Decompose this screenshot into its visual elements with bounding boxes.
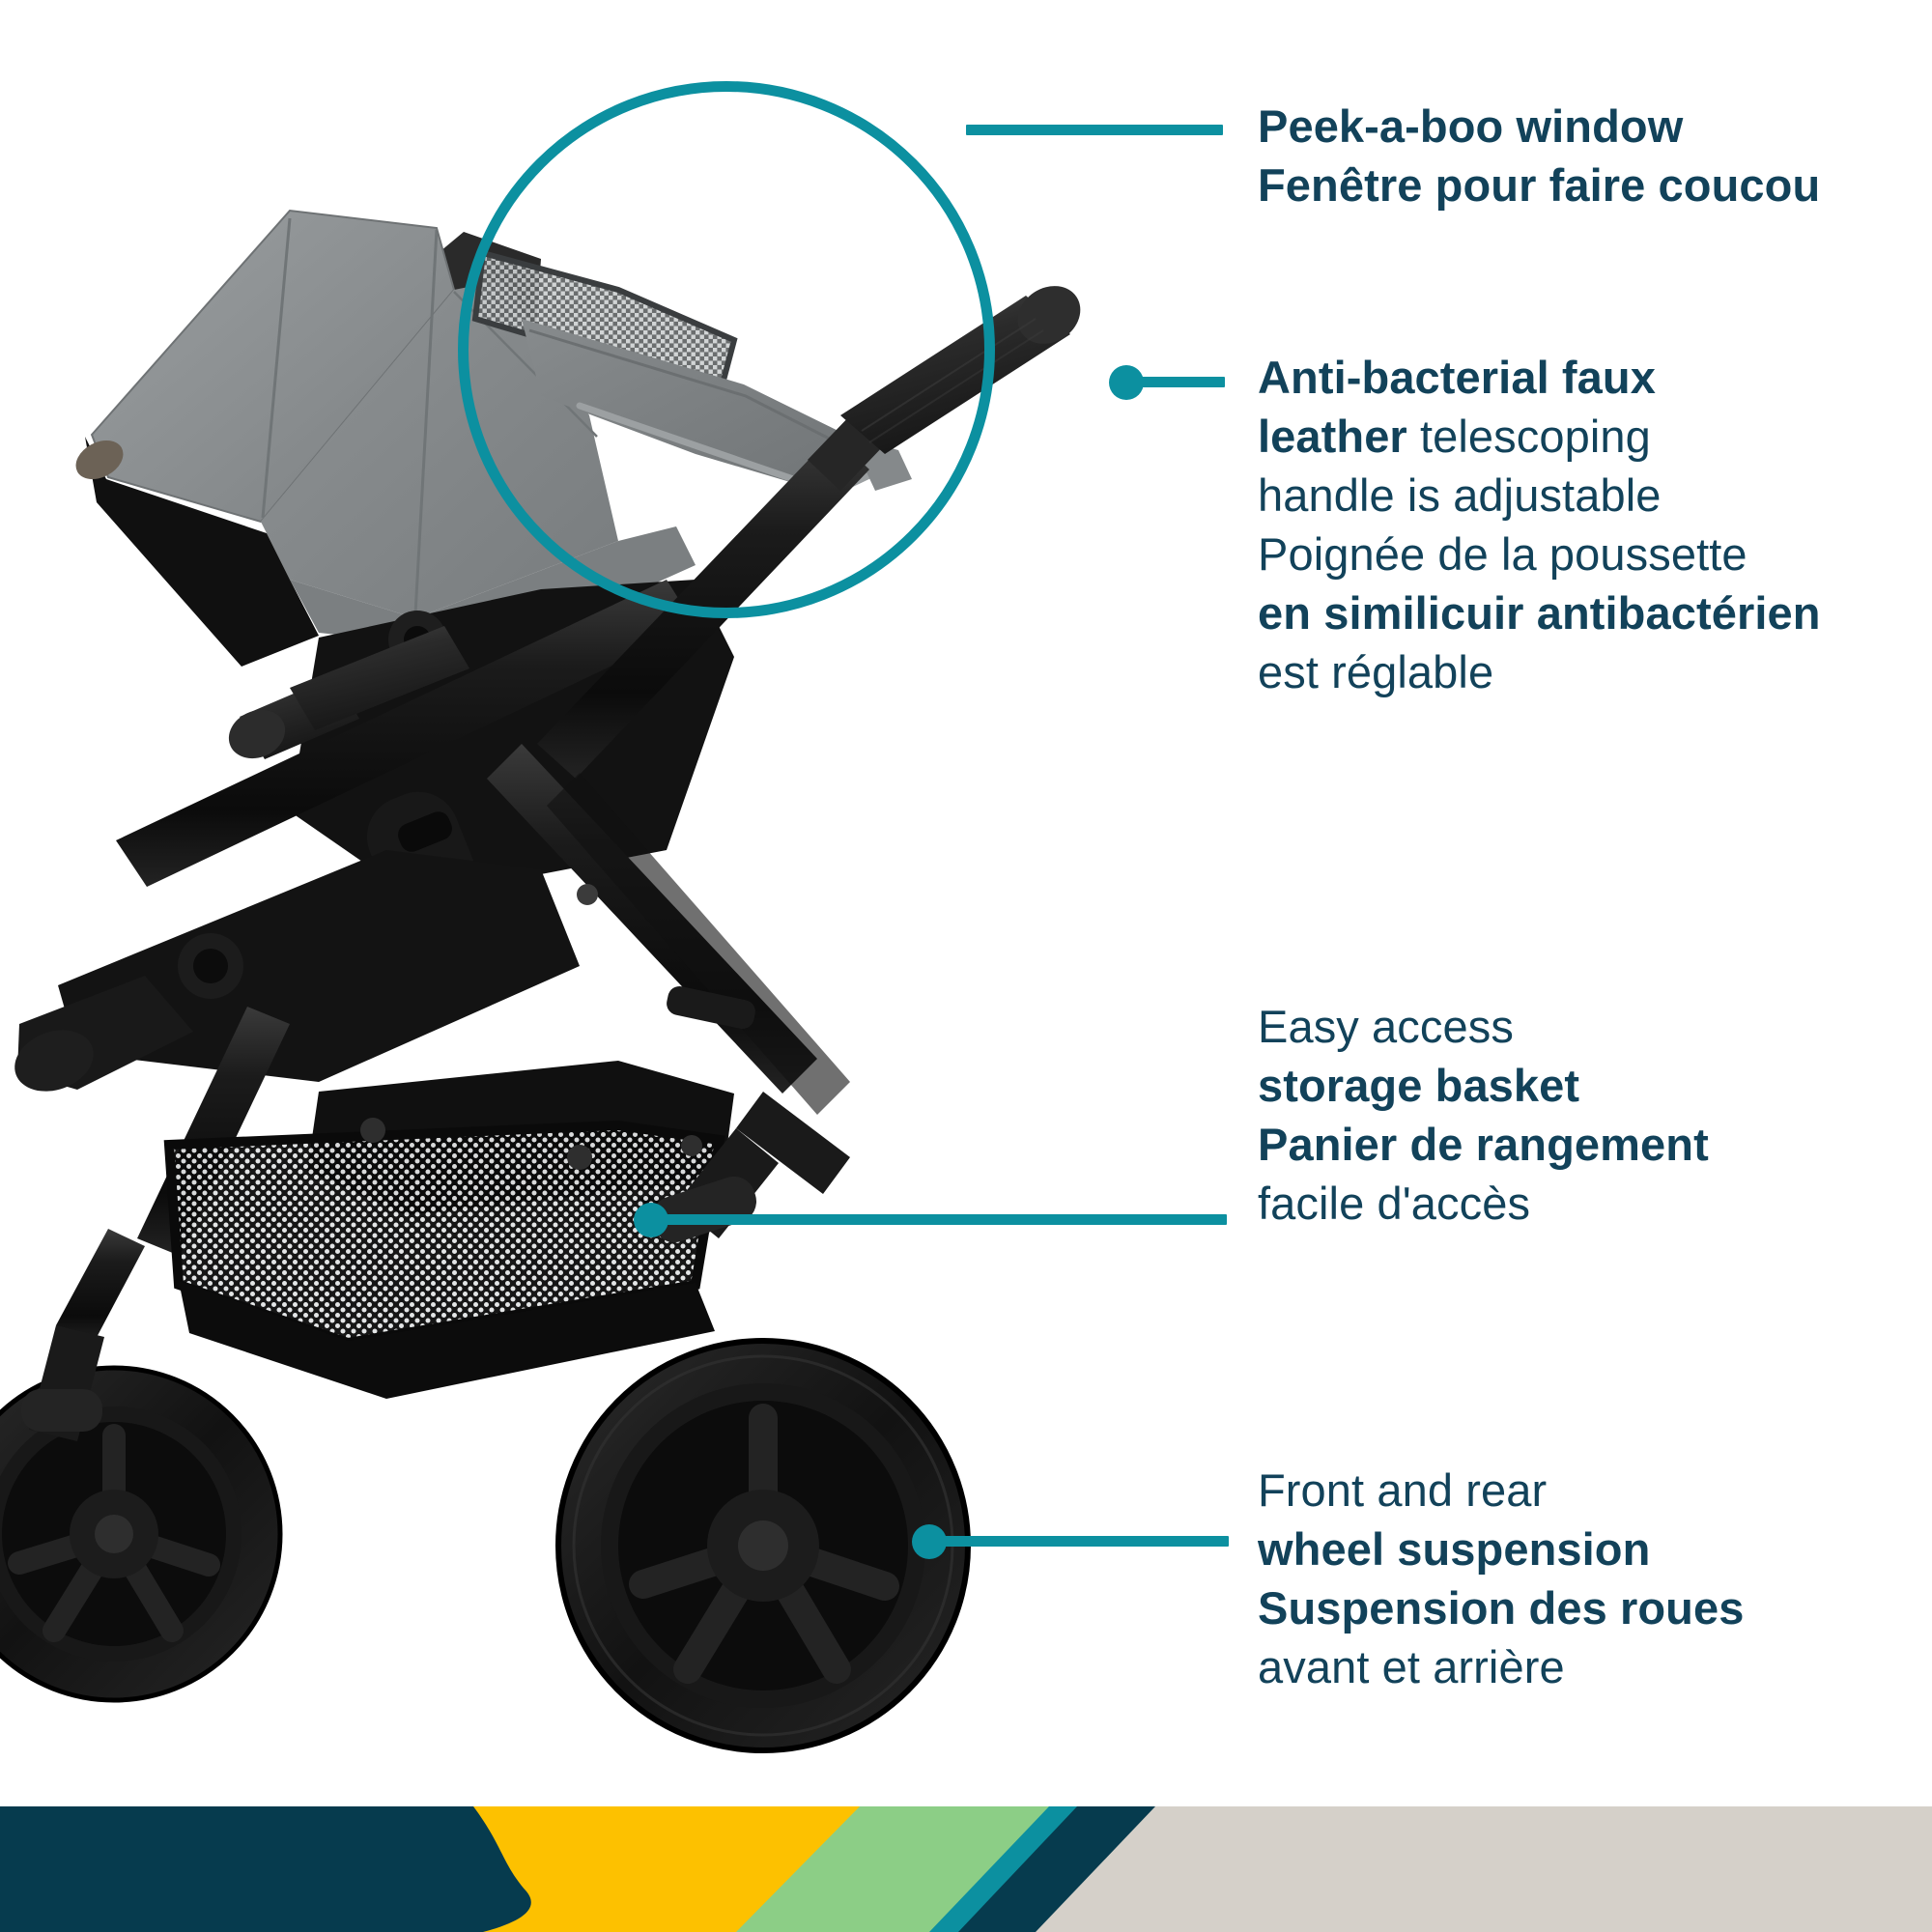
leader-dot-handle xyxy=(1109,365,1144,400)
callout-storage-basket: Easy access storage basket Panier de ran… xyxy=(1258,997,1709,1233)
callout-handle-en-line2: leather telescoping xyxy=(1258,407,1821,466)
callout-basket-fr-line1: Panier de rangement xyxy=(1258,1115,1709,1174)
leader-line-storage-basket xyxy=(649,1214,1227,1225)
callout-wheels-en-line1: Front and rear xyxy=(1258,1461,1744,1520)
callout-basket-en-line2: storage basket xyxy=(1258,1056,1709,1115)
stripe-navy-1 xyxy=(0,1806,531,1932)
leader-dot-wheel-suspension xyxy=(912,1524,947,1559)
callout-wheels-en-line2: wheel suspension xyxy=(1258,1520,1744,1578)
callout-basket-en-line1: Easy access xyxy=(1258,997,1709,1056)
leader-line-handle xyxy=(1132,377,1225,387)
callout-handle-en-line2-bold: leather xyxy=(1258,411,1407,462)
callout-handle-fr-line2: en similicuir antibactérien xyxy=(1258,583,1821,642)
callout-handle-fr-line3: est réglable xyxy=(1258,642,1821,701)
callout-peekaboo-en: Peek-a-boo window xyxy=(1258,97,1820,156)
leader-line-wheel-suspension xyxy=(929,1536,1229,1547)
callout-anti-bacterial-handle: Anti-bacterial faux leather telescoping … xyxy=(1258,348,1821,702)
callout-handle-en-line2-rest: telescoping xyxy=(1407,411,1651,462)
front-suspension xyxy=(21,1325,104,1441)
peek-a-boo-magnifier-circle xyxy=(458,81,995,618)
callout-peekaboo-fr: Fenêtre pour faire coucou xyxy=(1258,156,1820,214)
callout-peek-a-boo-window: Peek-a-boo window Fenêtre pour faire cou… xyxy=(1258,97,1820,214)
leader-line-peek-a-boo xyxy=(966,125,1223,135)
callout-wheels-fr-line1: Suspension des roues xyxy=(1258,1578,1744,1637)
callout-handle-en-line1: Anti-bacterial faux xyxy=(1258,348,1821,407)
callout-wheel-suspension: Front and rear wheel suspension Suspensi… xyxy=(1258,1461,1744,1696)
callout-handle-en-line3: handle is adjustable xyxy=(1258,466,1821,525)
callout-basket-fr-line2: facile d'accès xyxy=(1258,1174,1709,1233)
callout-wheels-fr-line2: avant et arrière xyxy=(1258,1637,1744,1696)
infographic-canvas: Peek-a-boo window Fenêtre pour faire cou… xyxy=(0,0,1932,1932)
callout-handle-fr-line1: Poignée de la poussette xyxy=(1258,525,1821,583)
rear-wheel xyxy=(558,1341,968,1750)
footer-brand-stripe-band xyxy=(0,1806,1932,1932)
leader-dot-storage-basket xyxy=(634,1203,668,1237)
